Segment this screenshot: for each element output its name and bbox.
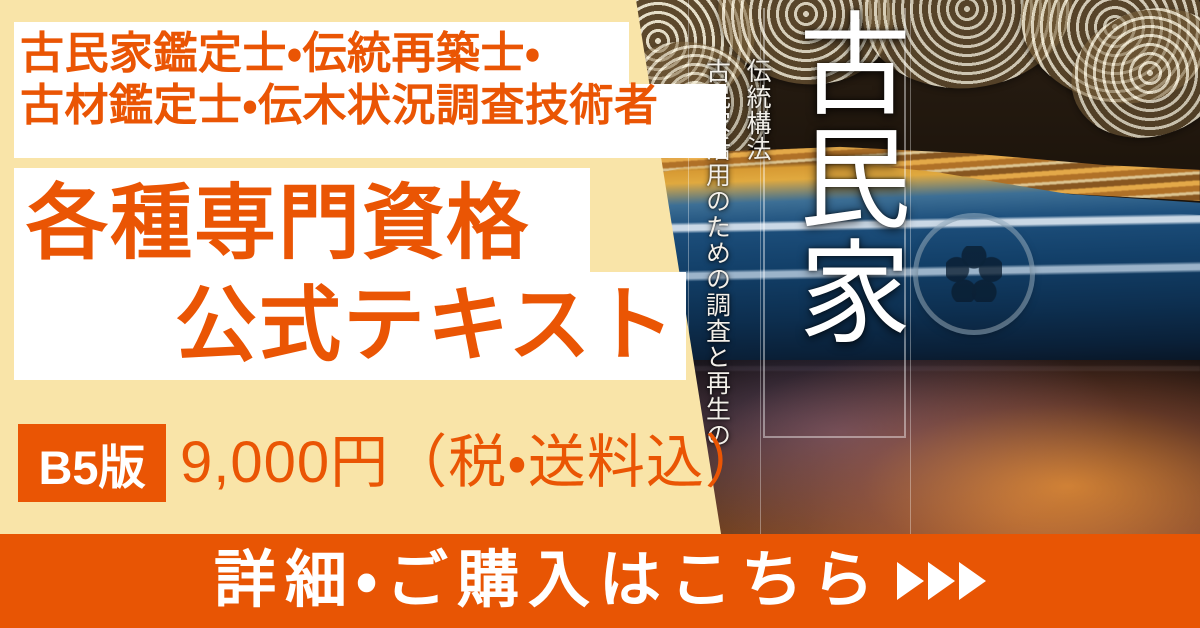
cover-frame-rule — [910, 0, 911, 540]
format-badge-label: B5版 — [38, 429, 145, 498]
book-cover-title: 古民家 — [760, 6, 910, 348]
triangle-right-icon — [928, 562, 955, 600]
qualification-heading: 古民家鑑定士・伝統再築士・ 古材鑑定士・伝木状況調査技術者 — [20, 28, 720, 132]
main-title-line2: 公式テキスト — [175, 285, 677, 367]
price-text: 9,000円（税・送料込） — [180, 428, 764, 498]
cta-label: 詳細・ご購入はこちら — [214, 550, 883, 612]
cta-arrows — [897, 562, 986, 600]
family-crest-icon — [946, 246, 1002, 302]
main-title-line1: 各種専門資格 — [26, 183, 530, 265]
promo-banner: 古民家 伝統構法 古民家活用のための調査と再生の 古民家鑑定士・伝統再築士・ 古… — [0, 0, 1200, 628]
cta-bar[interactable]: 詳細・ご購入はこちら — [0, 534, 1200, 628]
triangle-right-icon — [959, 562, 986, 600]
triangle-right-icon — [897, 562, 924, 600]
cover-eave-tile-medallion — [918, 218, 1030, 330]
format-badge: B5版 — [18, 424, 166, 502]
